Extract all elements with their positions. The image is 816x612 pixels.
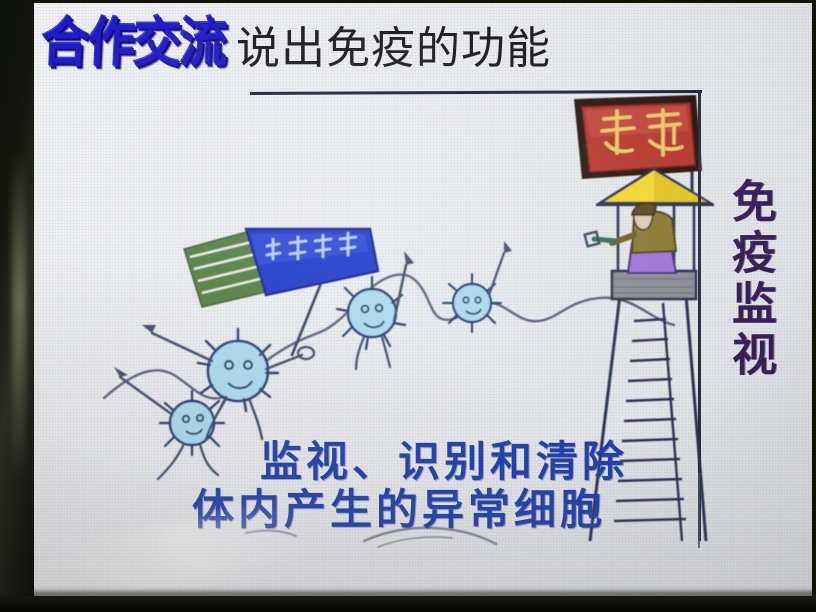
cell-1-legs bbox=[158, 444, 218, 479]
cell-4 bbox=[443, 241, 512, 332]
photo-bezel-right bbox=[812, 0, 816, 612]
tower-platform bbox=[612, 271, 696, 299]
photo-bezel-top bbox=[0, 0, 816, 3]
cell-2-spear bbox=[152, 333, 212, 361]
tower-leg-right bbox=[686, 295, 706, 541]
photo-bezel-bottom bbox=[0, 596, 816, 612]
slide-title: 合作交流 说出免疫的功能 bbox=[40, 7, 551, 77]
vertical-caption: 免疫监视 bbox=[724, 178, 776, 382]
cell-1-spear-tip bbox=[114, 367, 128, 377]
projector-photo: 合作交流 说出免疫的功能 bbox=[0, 0, 816, 612]
frame-line-vertical-tail bbox=[698, 473, 700, 548]
cell-4-spear-tip bbox=[504, 241, 512, 253]
title-emphasis: 合作交流 bbox=[40, 3, 228, 77]
caption-line-2: 体内产生的异常细胞 bbox=[164, 476, 634, 537]
ground-path bbox=[104, 275, 674, 399]
tower-guard bbox=[585, 203, 676, 273]
cell-4-spear bbox=[489, 253, 504, 295]
projected-slide: 合作交流 说出免疫的功能 bbox=[34, 3, 812, 596]
title-rest: 说出免疫的功能 bbox=[236, 12, 551, 76]
cell-3-spear-tip bbox=[404, 251, 414, 265]
bezel-glare bbox=[12, 150, 26, 480]
cell-2-spear-tip bbox=[142, 325, 156, 333]
cell-3-legs bbox=[356, 337, 390, 369]
ground-stroke-c bbox=[378, 537, 452, 547]
cell-1-spear bbox=[120, 377, 170, 413]
cell-1 bbox=[114, 367, 224, 479]
cell-2-hand bbox=[298, 347, 314, 359]
